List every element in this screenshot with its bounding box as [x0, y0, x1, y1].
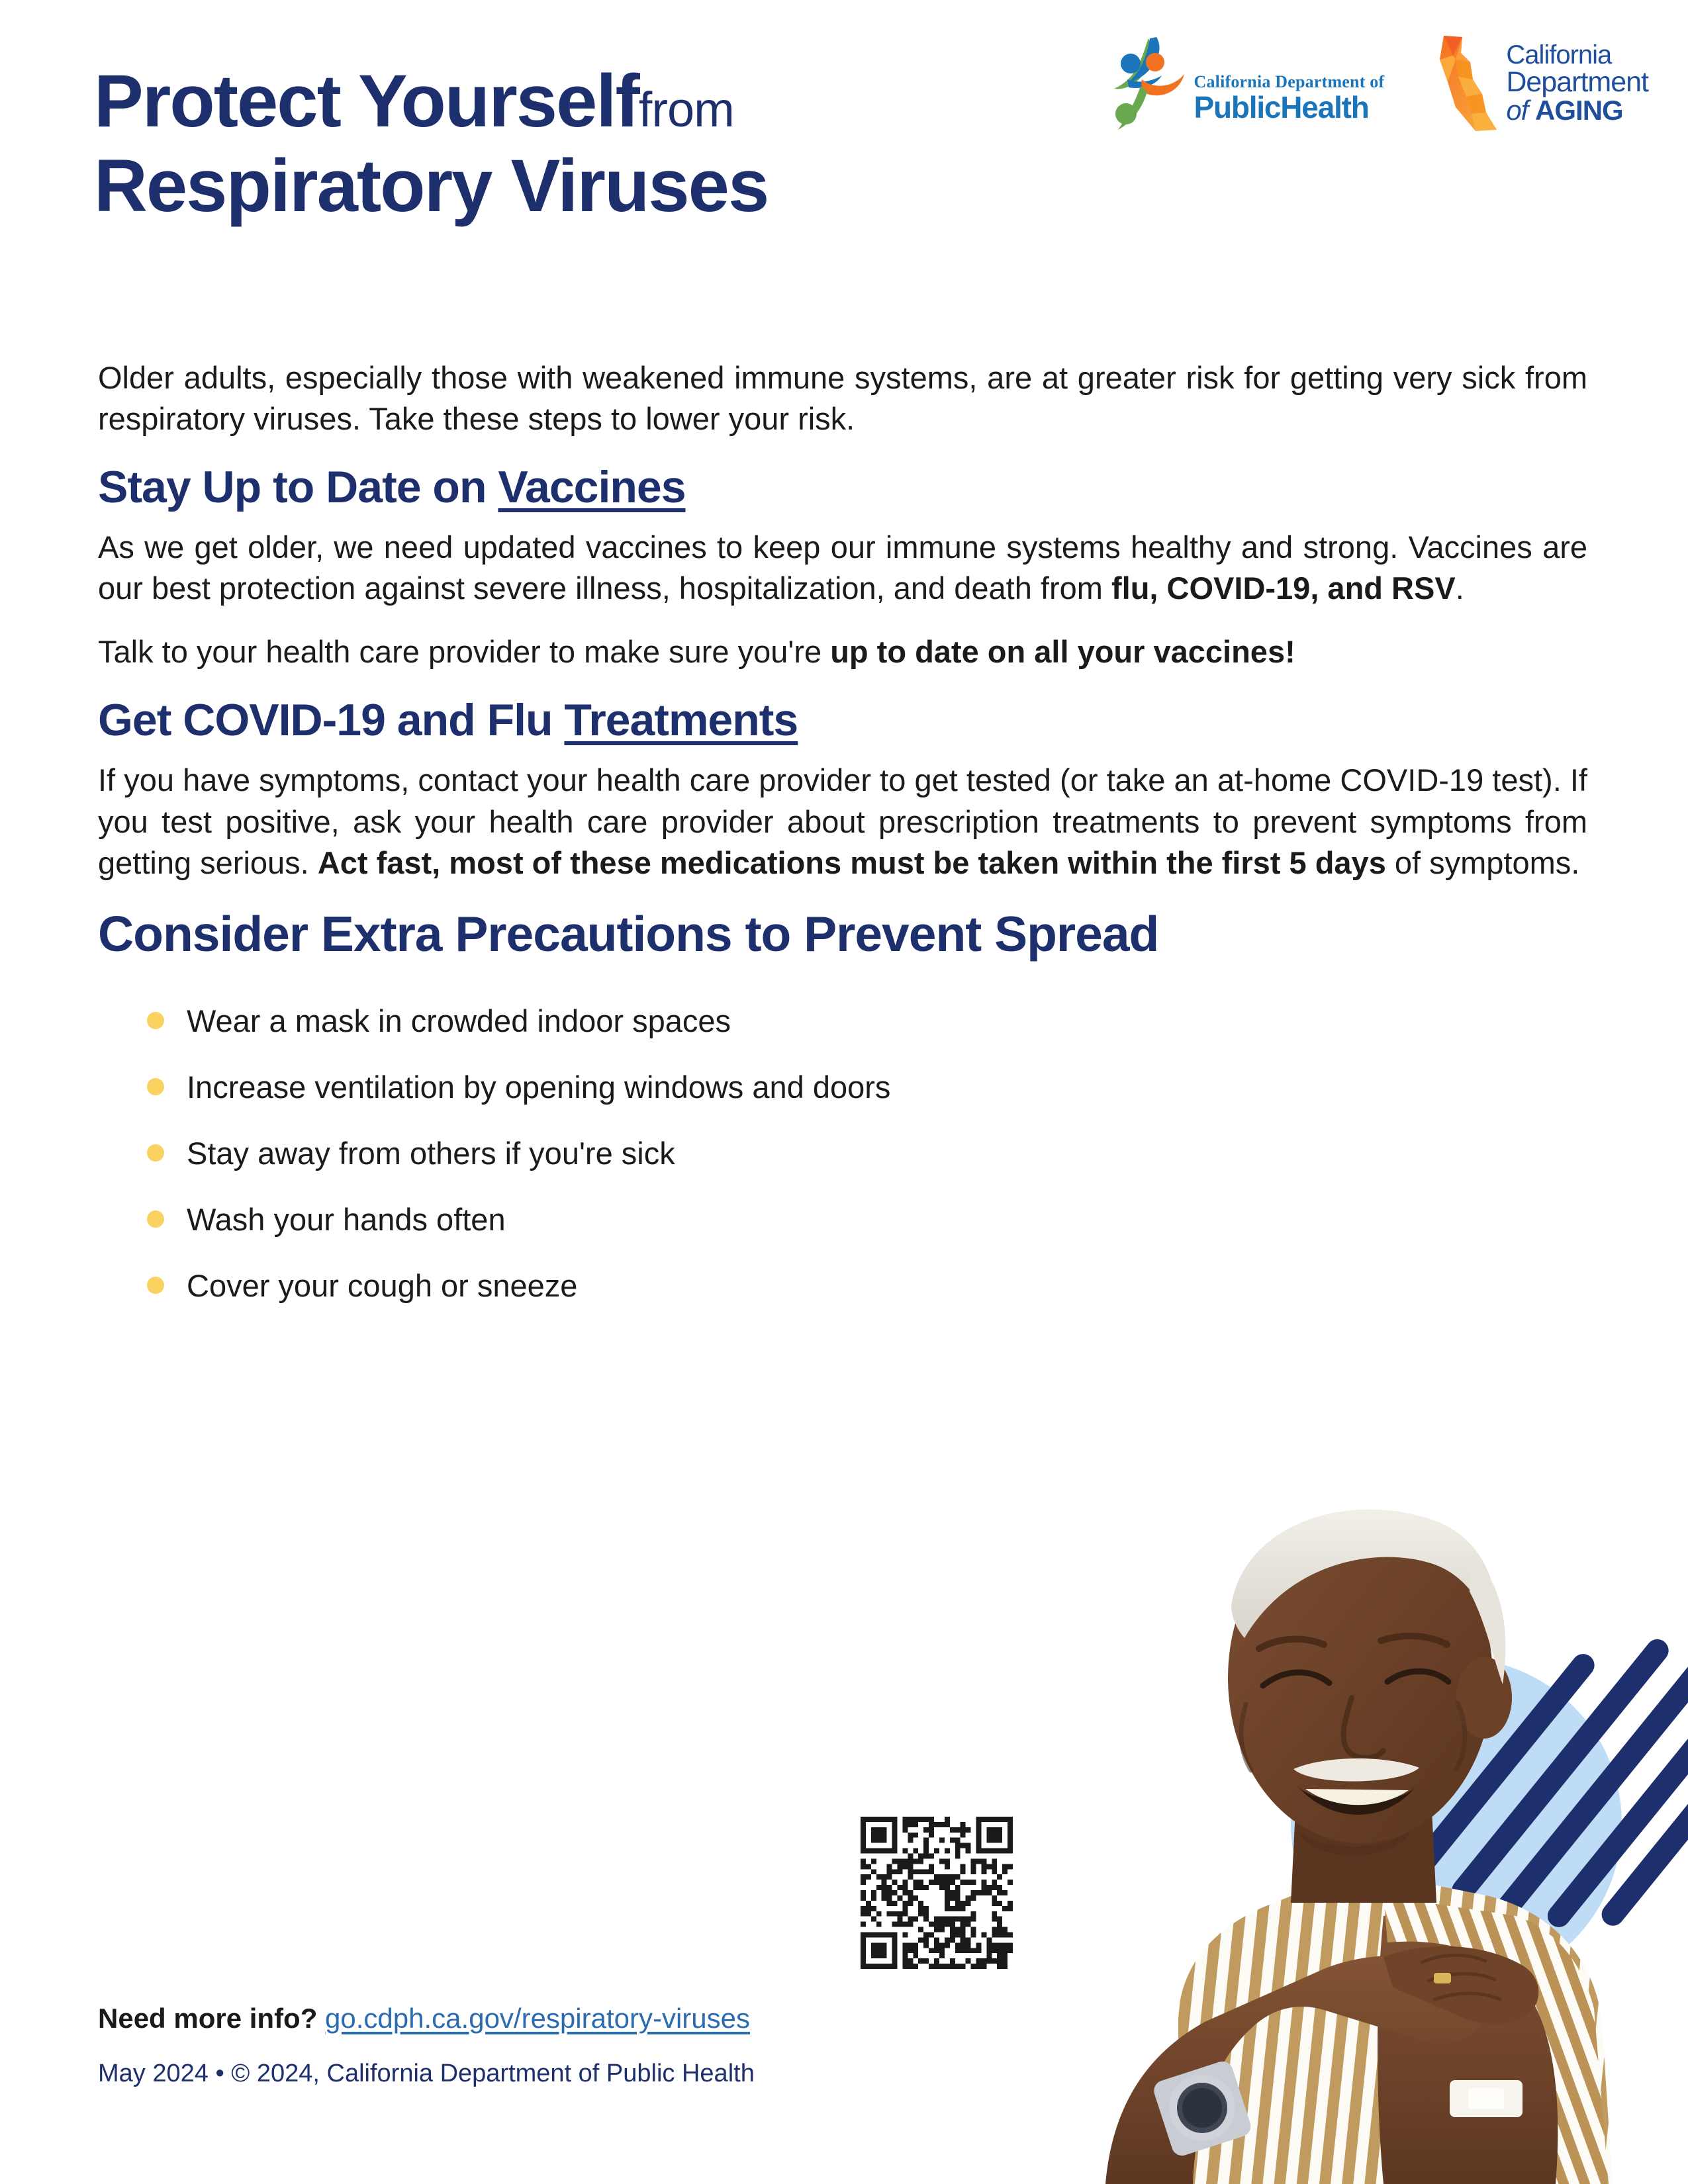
- list-item-label: Wash your hands often: [187, 1202, 506, 1237]
- california-state-outline-icon: [1436, 33, 1499, 132]
- page-title: Protect Yourselffrom Respiratory Viruses: [94, 64, 1127, 224]
- cdph-logo-line1: California Department of: [1194, 73, 1384, 91]
- treatments-link[interactable]: Treatments: [564, 695, 798, 745]
- body-text: Talk to your health care provider to mak…: [98, 634, 830, 669]
- emphasis-text: Act fast, most of these medications must…: [318, 845, 1386, 880]
- section-heading-treatments-text: Get COVID-19 and Flu: [98, 695, 564, 745]
- section-heading-treatments: Get COVID-19 and Flu Treatments: [98, 695, 1587, 745]
- photo-composition: [1013, 1439, 1688, 2184]
- page-title-main: Protect Yourself: [94, 60, 639, 142]
- bullet-dot-icon: [147, 1012, 164, 1029]
- need-more-info-label: Need more info?: [98, 2003, 317, 2034]
- treatments-paragraph-1: If you have symptoms, contact your healt…: [98, 760, 1587, 883]
- list-item: Wear a mask in crowded indoor spaces: [142, 1001, 989, 1041]
- emphasis-text: up to date on all your vaccines!: [830, 634, 1295, 669]
- footer: Need more info? go.cdph.ca.gov/respirato…: [98, 2002, 1025, 2089]
- section-heading-vaccines-text: Stay Up to Date on: [98, 462, 498, 512]
- list-item: Wash your hands often: [142, 1200, 989, 1240]
- cdph-logo: California Department of PublicHealth: [1109, 33, 1384, 132]
- bullet-dot-icon: [147, 1144, 164, 1161]
- intro-paragraph: Older adults, especially those with weak…: [98, 357, 1587, 439]
- precautions-list: Wear a mask in crowded indoor spacesIncr…: [142, 1001, 989, 1306]
- list-item-label: Wear a mask in crowded indoor spaces: [187, 1003, 731, 1038]
- list-item-label: Increase ventilation by opening windows …: [187, 1069, 890, 1105]
- aging-logo-line3: of AGING: [1506, 97, 1648, 124]
- aging-logo-line1: California: [1506, 42, 1648, 68]
- aging-logo-line2: Department: [1506, 68, 1648, 97]
- section-heading-vaccines: Stay Up to Date on Vaccines: [98, 462, 1587, 512]
- body-text: of symptoms.: [1386, 845, 1580, 880]
- older-adult-photo: [1013, 1439, 1688, 2184]
- list-item: Cover your cough or sneeze: [142, 1266, 989, 1306]
- poster-page: California Department of PublicHealth: [0, 0, 1688, 2184]
- emphasis-text: flu, COVID-19, and RSV: [1111, 570, 1456, 606]
- content-column: Older adults, especially those with weak…: [98, 357, 1587, 1332]
- page-title-line1: Protect Yourselffrom: [94, 64, 1127, 139]
- need-more-info-line: Need more info? go.cdph.ca.gov/respirato…: [98, 2002, 1025, 2035]
- bullet-dot-icon: [147, 1210, 164, 1228]
- bullet-dot-icon: [147, 1078, 164, 1095]
- bullet-dot-icon: [147, 1277, 164, 1294]
- qr-code[interactable]: [861, 1817, 1013, 1969]
- list-item: Increase ventilation by opening windows …: [142, 1068, 989, 1107]
- cdph-logo-line2: PublicHealth: [1194, 92, 1384, 123]
- page-title-line2: Respiratory Viruses: [94, 148, 1127, 224]
- page-title-from: from: [639, 82, 734, 137]
- vaccines-link[interactable]: Vaccines: [498, 462, 685, 512]
- aging-logo: California Department of AGING: [1436, 33, 1648, 132]
- logo-row: California Department of PublicHealth: [1109, 33, 1648, 132]
- vaccines-paragraph-2: Talk to your health care provider to mak…: [98, 631, 1587, 672]
- copyright-line: May 2024 • © 2024, California Department…: [98, 2059, 1025, 2089]
- section-heading-precautions: Consider Extra Precautions to Prevent Sp…: [98, 906, 1587, 962]
- list-item: Stay away from others if you're sick: [142, 1134, 989, 1173]
- list-item-label: Stay away from others if you're sick: [187, 1136, 675, 1171]
- respiratory-viruses-link[interactable]: go.cdph.ca.gov/respiratory-viruses: [325, 2003, 750, 2034]
- vaccines-paragraph-1: As we get older, we need updated vaccine…: [98, 527, 1587, 609]
- list-item-label: Cover your cough or sneeze: [187, 1268, 577, 1303]
- body-text: .: [1456, 570, 1464, 606]
